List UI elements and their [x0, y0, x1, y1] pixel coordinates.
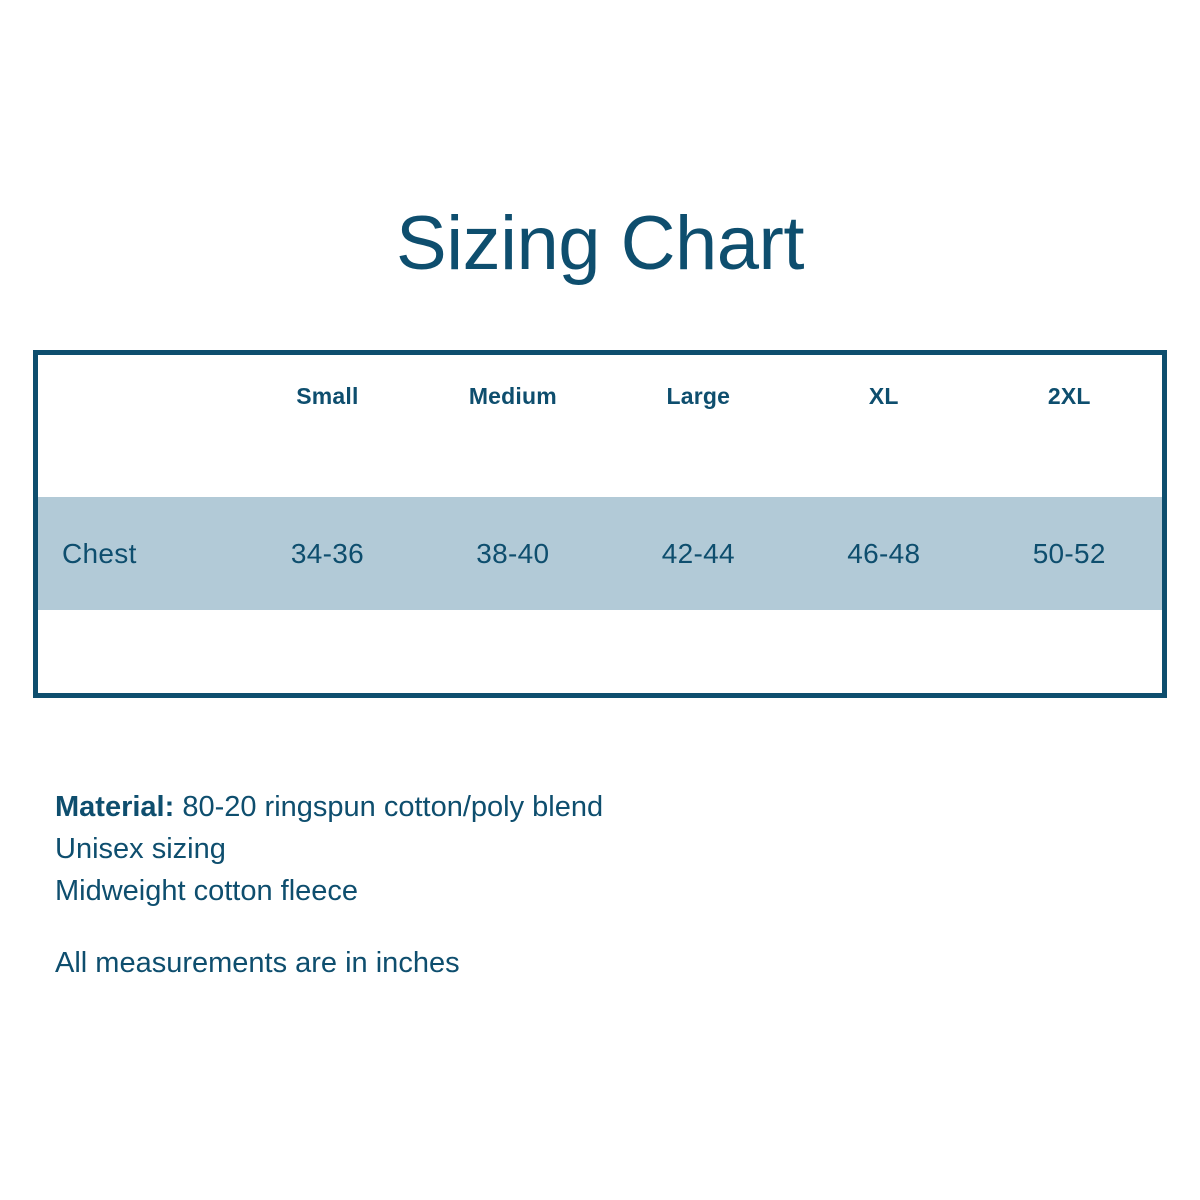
footer-notes: Material: 80-20 ringspun cotton/poly ble… — [55, 786, 1055, 984]
cell-chest-small: 34-36 — [235, 497, 420, 610]
table-header: Small Medium Large XL 2XL — [38, 355, 1162, 438]
sizing-table: Small Medium Large XL 2XL Chest 34-36 38… — [38, 355, 1162, 693]
note-fabric: Midweight cotton fleece — [55, 870, 1055, 912]
spacer-cell — [235, 438, 420, 497]
cell-chest-xl: 46-48 — [791, 497, 976, 610]
column-header-medium: Medium — [420, 355, 605, 438]
spacer-cell — [420, 610, 605, 693]
note-material: Material: 80-20 ringspun cotton/poly ble… — [55, 786, 1055, 828]
table-tail-row — [38, 610, 1162, 693]
table-header-row: Small Medium Large XL 2XL — [38, 355, 1162, 438]
spacer-cell — [977, 438, 1163, 497]
column-header-small: Small — [235, 355, 420, 438]
cell-chest-medium: 38-40 — [420, 497, 605, 610]
table-row: Chest 34-36 38-40 42-44 46-48 50-52 — [38, 497, 1162, 610]
cell-chest-large: 42-44 — [606, 497, 791, 610]
table-body: Chest 34-36 38-40 42-44 46-48 50-52 — [38, 438, 1162, 693]
note-measurement-units: All measurements are in inches — [55, 942, 1055, 984]
spacer-cell — [235, 610, 420, 693]
note-material-value: 80-20 ringspun cotton/poly blend — [174, 791, 603, 823]
note-spacer — [55, 912, 1055, 942]
sizing-table-container: Small Medium Large XL 2XL Chest 34-36 38… — [33, 350, 1167, 698]
spacer-cell — [791, 610, 976, 693]
spacer-cell — [606, 438, 791, 497]
row-label-chest: Chest — [38, 497, 235, 610]
spacer-cell — [420, 438, 605, 497]
table-spacer-row — [38, 438, 1162, 497]
column-header-2xl: 2XL — [977, 355, 1163, 438]
spacer-cell — [38, 438, 235, 497]
column-header-xl: XL — [791, 355, 976, 438]
spacer-cell — [791, 438, 976, 497]
spacer-cell — [606, 610, 791, 693]
spacer-cell — [977, 610, 1163, 693]
note-material-label: Material: — [55, 791, 174, 823]
column-header-large: Large — [606, 355, 791, 438]
cell-chest-2xl: 50-52 — [977, 497, 1163, 610]
note-unisex-sizing: Unisex sizing — [55, 828, 1055, 870]
spacer-cell — [38, 610, 235, 693]
column-header-rowlabel — [38, 355, 235, 438]
page-title: Sizing Chart — [0, 206, 1200, 282]
